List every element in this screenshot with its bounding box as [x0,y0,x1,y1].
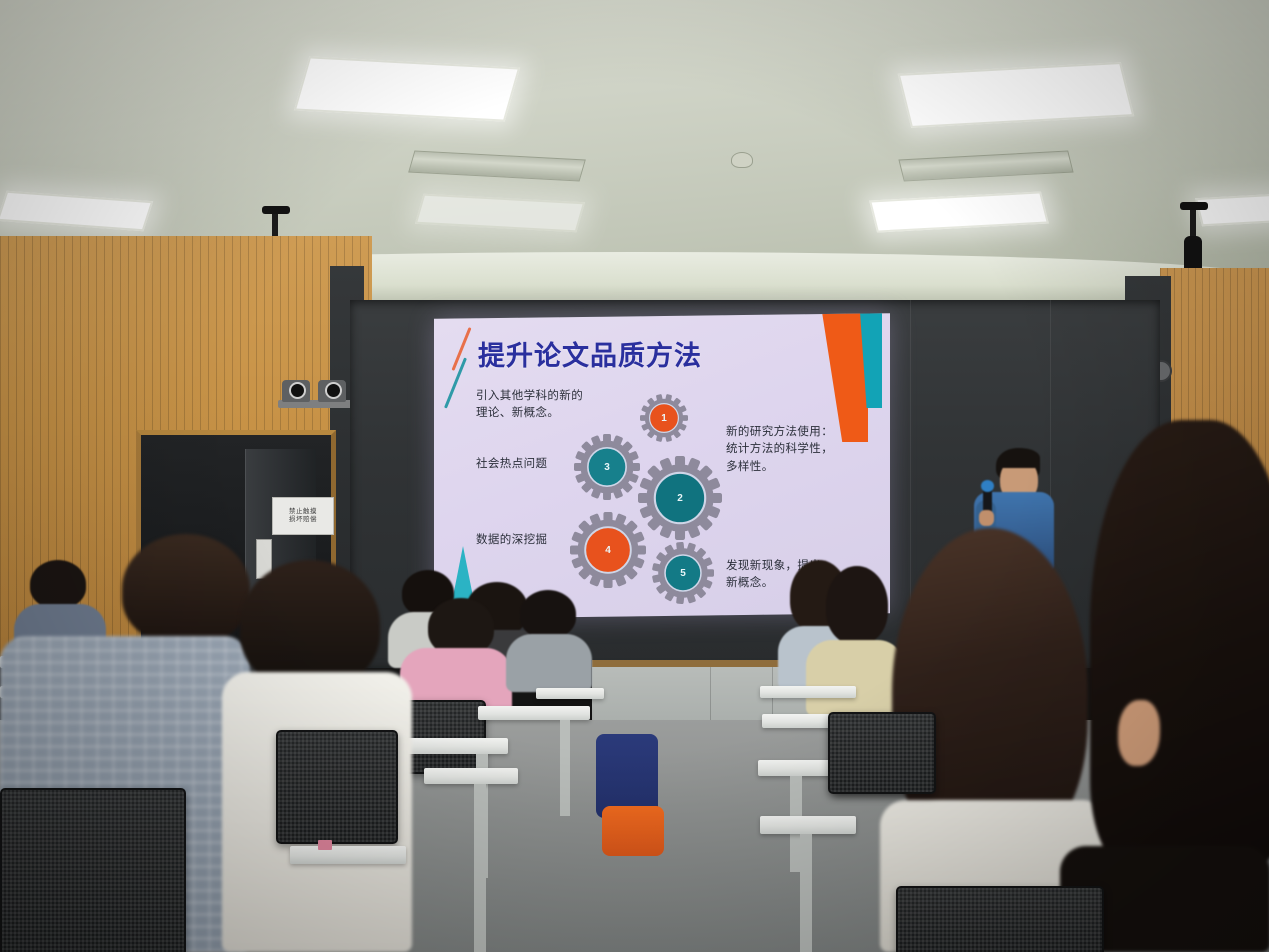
desk-front-2 [424,768,518,784]
slide-text-mid-left: 社会热点问题 [476,456,547,473]
chair-mid-right [828,712,936,794]
air-vent-1 [408,150,586,181]
speaker-right [1180,202,1208,210]
desk-mid-1-leg [560,720,570,816]
microphone-head [981,480,994,492]
warning-sign-line1: 禁止触摸 [289,508,317,516]
hair [826,566,888,644]
presenter-hand [979,510,994,526]
sprinkler-head [731,152,753,168]
ear [1118,700,1160,766]
ceiling-light-4 [869,191,1049,232]
warning-sign: 禁止触摸 损坏赔偿 [272,497,334,535]
slide-text-mid-right: 新的研究方法使用： 统计方法的科学性， 多样性。 [726,424,833,476]
slide-decor-orange-wedge [822,313,868,442]
slide-text-bottom-left: 数据的深挖掘 [476,532,547,549]
ceiling-light-3 [898,62,1135,128]
desk-front-right [760,816,856,834]
hair [1090,420,1269,870]
chair-front-right [896,886,1104,952]
lecture-hall-scene: 禁止触摸 损坏赔偿 提升论文品质方法 引入其他学科的新的 理论、新概念。 社会热… [0,0,1269,952]
ceiling-light-6 [1195,194,1269,226]
air-vent-2 [898,150,1073,181]
ceiling-light-5 [0,191,153,231]
hair [30,560,86,608]
backpack-bottom [602,806,664,856]
torso [806,640,904,716]
desk-back-4 [536,688,604,699]
hair [122,534,250,644]
torso [506,634,592,692]
ptz-camera-1-lens [289,382,306,399]
slide-gear-5: 5 [652,542,714,604]
slide-gear-1: 1 [640,394,688,442]
slide-text-top-left: 引入其他学科的新的 理论、新概念。 [476,388,583,423]
warning-sign-line2: 损坏赔偿 [289,516,317,524]
desk-front-right-leg [800,834,812,952]
slide-gear-2: 2 [638,456,722,540]
desk-mid-1 [478,706,590,720]
ptz-camera-2-lens [325,382,342,399]
desk-back-3 [760,686,856,698]
hair [520,590,576,638]
ceiling-light-2 [415,194,585,233]
slide-gear-4: 4 [570,512,646,588]
speaker-left [262,206,290,214]
slide-gear-3: 3 [574,434,640,500]
binder-clip [318,840,332,850]
desk-front-2-leg [474,784,486,952]
hair [240,560,380,688]
slide-title: 提升论文品质方法 [478,334,702,373]
desk-front-1 [290,846,406,864]
presenter-hair-top [1000,448,1040,468]
ceiling-light-1 [294,56,520,121]
chair-front-1 [0,788,186,952]
chair-front-2 [276,730,398,844]
